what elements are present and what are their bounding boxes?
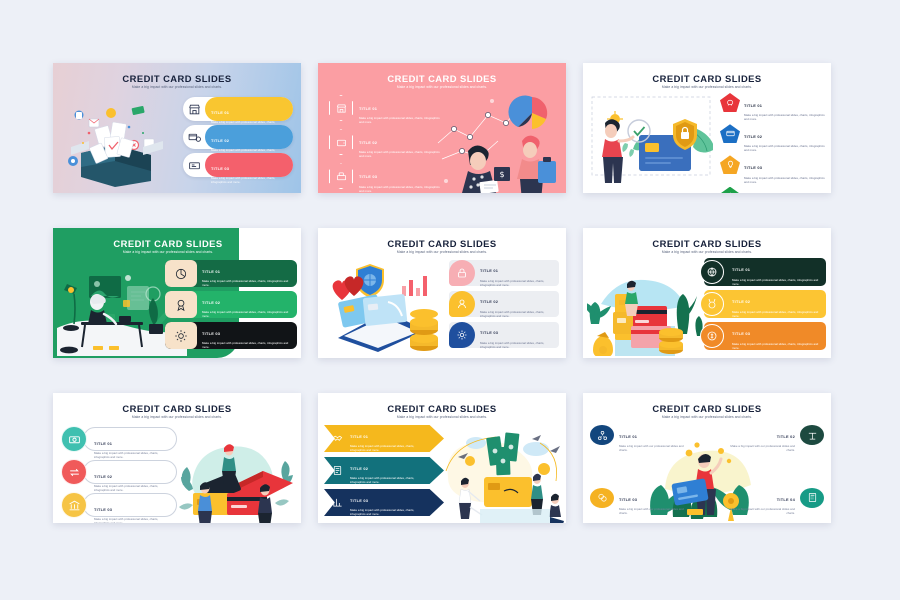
list-item-title: TITLE 03 [619, 497, 637, 502]
list-item-body: TITLE 04 Make a big impact with professi… [740, 187, 825, 193]
list-item-body: TITLE 02 Make a big impact with professi… [726, 290, 826, 317]
list-item-title: TITLE 01 [619, 434, 637, 439]
coins-icon [590, 488, 614, 508]
item-list: TITLE 01 Make a big impact with professi… [720, 93, 825, 193]
list-item-body: TITLE 03 Make a big impact with professi… [83, 493, 177, 517]
illustration-people-giant-cards [175, 431, 301, 523]
list-item[interactable]: TITLE 03 Make a big impact with professi… [328, 163, 440, 192]
list-item-text: Make a big impact with professional slid… [359, 116, 440, 124]
item-list: TITLE 01 Make a big impact with professi… [328, 95, 440, 193]
list-item-title: TITLE 01 [359, 106, 377, 111]
item-list: TITLE 01 Make a big impact with professi… [324, 425, 444, 521]
card-payment-icon [183, 131, 205, 144]
list-item-body: TITLE 03 Make a big impact with professi… [205, 153, 293, 177]
list-item[interactable]: TITLE 02 Make a big impact with professi… [324, 457, 444, 484]
list-item-text: Make a big impact with our professional … [725, 507, 795, 515]
list-item-title: TITLE 03 [202, 331, 220, 336]
item-list: TITLE 01 Make a big impact with professi… [704, 258, 826, 354]
list-item-title: TITLE 02 [350, 466, 368, 471]
list-item-title: TITLE 01 [211, 110, 229, 115]
svg-text:$: $ [499, 170, 504, 179]
page-title: CREDIT CARD SLIDES [583, 73, 831, 84]
list-item[interactable]: TITLE 01 Make a big impact with professi… [183, 97, 293, 121]
slide-deck-board: CREDIT CARD SLIDES Make a big impact wit… [0, 0, 900, 600]
user-icon [449, 291, 475, 317]
illustration-open-box [59, 97, 171, 187]
list-item-title: TITLE 01 [480, 268, 498, 273]
list-item-title: TITLE 02 [777, 434, 795, 439]
list-item-title: TITLE 02 [359, 140, 377, 145]
list-item-text: Make a big impact with professional slid… [732, 342, 826, 350]
slide-thumbnail-3[interactable]: CREDIT CARD SLIDES Make a big impact wit… [583, 63, 831, 193]
list-item-body: TITLE 02 Make a big impact with professi… [740, 124, 825, 152]
list-item-body: TITLE 01 Make a big impact with our prof… [614, 425, 694, 452]
illustration-people-charts: $ [432, 89, 566, 193]
page-title: CREDIT CARD SLIDES [318, 73, 566, 84]
list-item[interactable]: TITLE 02 Make a big impact with professi… [165, 291, 297, 318]
list-item[interactable]: TITLE 02 Make a big impact with professi… [449, 291, 559, 317]
coin-icon [700, 324, 724, 348]
list-item-text: Make a big impact with professional slid… [359, 150, 440, 158]
slide-thumbnail-1[interactable]: CREDIT CARD SLIDES Make a big impact wit… [53, 63, 301, 193]
page-subtitle: Make a big impact with our professional … [583, 415, 831, 419]
bank-icon [61, 492, 87, 518]
chart-icon [328, 497, 347, 508]
item-list: TITLE 01 Make a big impact with professi… [61, 425, 177, 523]
list-item-title: TITLE 02 [480, 299, 498, 304]
list-item-body: TITLE 01 Make a big impact with professi… [475, 259, 559, 286]
slide-thumbnail-2[interactable]: CREDIT CARD SLIDES Make a big impact wit… [318, 63, 566, 193]
list-item-text: Make a big impact with our professional … [619, 507, 689, 515]
page-title: CREDIT CARD SLIDES [583, 403, 831, 414]
list-item-body: TITLE 02 Make a big impact with professi… [197, 291, 297, 318]
list-item-title: TITLE 02 [744, 134, 762, 139]
slide-thumbnail-9[interactable]: CREDIT CARD SLIDES Make a big impact wit… [583, 393, 831, 523]
list-item[interactable]: TITLE 03 Make a big impact with professi… [165, 322, 297, 349]
list-item-title: TITLE 03 [359, 174, 377, 179]
page-subtitle: Make a big impact with our professional … [93, 250, 243, 254]
list-item[interactable]: TITLE 02 Make a big impact with professi… [61, 458, 177, 486]
handshake-icon [328, 433, 347, 444]
hexagon-frame [328, 129, 354, 155]
slide-thumbnail-5[interactable]: CREDIT CARD SLIDES Make a big impact wit… [318, 228, 566, 358]
page-subtitle: Make a big impact with our professional … [583, 250, 831, 254]
cash-register-icon [329, 163, 353, 189]
store-icon [329, 95, 353, 121]
award-icon [165, 291, 197, 318]
lock-icon [449, 260, 475, 286]
medal-icon [700, 292, 724, 316]
list-item-text: Make a big impact with professional slid… [744, 176, 825, 184]
list-item-body: TITLE 02 Make a big impact with professi… [347, 457, 444, 484]
illustration-cards-cactus [587, 264, 705, 356]
list-item-body: TITLE 01 Make a big impact with professi… [726, 258, 826, 285]
credit-card-icon [720, 124, 740, 143]
list-item[interactable]: TITLE 03 Make a big impact with professi… [183, 153, 293, 177]
settings-icon [449, 322, 475, 348]
list-item-title: TITLE 02 [211, 138, 229, 143]
slide-thumbnail-4[interactable]: CREDIT CARD SLIDES Make a big impact wit… [53, 228, 301, 358]
page-title: CREDIT CARD SLIDES [583, 238, 831, 249]
pie-chart-icon [165, 260, 197, 287]
list-item-text: Make a big impact with professional slid… [211, 176, 287, 184]
list-item-body: TITLE 01 Make a big impact with professi… [197, 260, 297, 287]
list-item[interactable]: TITLE 02 Make a big impact with professi… [328, 129, 440, 158]
list-item[interactable]: TITLE 03 Make a big impact with our prof… [590, 488, 694, 515]
piggy-bank-icon [720, 93, 740, 112]
list-item-text: Make a big impact with professional slid… [732, 310, 826, 318]
list-item-body: TITLE 01 Make a big impact with professi… [347, 425, 444, 452]
list-item-body: TITLE 02 Make a big impact with professi… [205, 125, 293, 149]
list-item-text: Make a big impact with professional slid… [350, 476, 430, 484]
hexagon-frame [328, 163, 354, 189]
shop-icon [183, 103, 205, 116]
list-item[interactable]: TITLE 03 Make a big impact with professi… [324, 489, 444, 516]
page-title: CREDIT CARD SLIDES [53, 73, 301, 84]
item-list: TITLE 01 Make a big impact with professi… [165, 260, 297, 353]
list-item-body: TITLE 03 Make a big impact with professi… [347, 489, 444, 516]
list-item-body: TITLE 03 Make a big impact with professi… [475, 321, 559, 348]
item-list: TITLE 01 Make a big impact with professi… [183, 97, 293, 181]
list-item-body: TITLE 02 Make a big impact with professi… [83, 460, 177, 484]
bank-column-icon [800, 425, 824, 445]
list-item[interactable]: TITLE 04 Make a big impact with our prof… [720, 488, 824, 515]
list-item-body: TITLE 03 Make a big impact with professi… [354, 163, 440, 192]
list-item[interactable]: TITLE 03 Make a big impact with professi… [720, 155, 825, 183]
illustration-cash-yellow-card [436, 421, 566, 523]
list-item-title: TITLE 02 [202, 300, 220, 305]
list-item[interactable]: TITLE 01 Make a big impact with professi… [165, 260, 297, 287]
list-item-text: Make a big impact with professional slid… [744, 113, 825, 121]
list-item-text: Make a big impact with professional slid… [480, 341, 559, 349]
hexagon-frame [328, 95, 354, 121]
list-item[interactable]: TITLE 01 Make a big impact with professi… [704, 258, 826, 286]
list-item[interactable]: TITLE 02 Make a big impact with professi… [704, 290, 826, 318]
list-item-body: TITLE 03 Make a big impact with professi… [740, 155, 825, 183]
list-item-body: TITLE 03 Make a big impact with professi… [197, 322, 297, 349]
page-title: CREDIT CARD SLIDES [318, 238, 566, 249]
money-icon [61, 426, 87, 452]
list-item-title: TITLE 03 [744, 165, 762, 170]
list-item-body: TITLE 04 Make a big impact with our prof… [720, 488, 800, 515]
contract-icon [328, 465, 347, 476]
list-item[interactable]: TITLE 02 Make a big impact with professi… [183, 125, 293, 149]
page-title: CREDIT CARD SLIDES [93, 238, 243, 249]
list-item-title: TITLE 03 [94, 507, 112, 512]
page-subtitle: Make a big impact with our professional … [318, 415, 566, 419]
page-title: CREDIT CARD SLIDES [318, 403, 566, 414]
list-item[interactable]: TITLE 03 Make a big impact with professi… [449, 322, 559, 348]
list-item-text: Make a big impact with professional slid… [480, 310, 559, 318]
list-item[interactable]: TITLE 04 Make a big impact with professi… [720, 187, 825, 193]
list-item-text: Make a big impact with professional slid… [94, 517, 170, 523]
list-item[interactable]: TITLE 01 Make a big impact with professi… [324, 425, 444, 452]
list-item[interactable]: TITLE 02 Make a big impact with professi… [720, 124, 825, 152]
slide-thumbnail-8[interactable]: CREDIT CARD SLIDES Make a big impact wit… [318, 393, 566, 523]
list-item-text: Make a big impact with our professional … [725, 444, 795, 452]
list-item-title: TITLE 03 [211, 166, 229, 171]
list-item-text: Make a big impact with professional slid… [359, 185, 440, 193]
list-item-title: TITLE 03 [350, 498, 368, 503]
list-item-title: TITLE 02 [94, 474, 112, 479]
list-item-text: Make a big impact with professional slid… [480, 279, 559, 287]
list-item-title: TITLE 03 [480, 330, 498, 335]
wallet-icon [329, 129, 353, 155]
idea-icon [165, 322, 197, 349]
list-item-text: Make a big impact with professional slid… [202, 341, 292, 349]
list-item-text: Make a big impact with our professional … [619, 444, 689, 452]
list-item-text: Make a big impact with professional slid… [350, 508, 430, 516]
page-title: CREDIT CARD SLIDES [53, 403, 301, 414]
slide-grid: CREDIT CARD SLIDES Make a big impact wit… [53, 63, 847, 536]
bulb-icon [720, 155, 740, 174]
page-subtitle: Make a big impact with our professional … [583, 85, 831, 89]
slide-thumbnail-6[interactable]: CREDIT CARD SLIDES Make a big impact wit… [583, 228, 831, 358]
list-item-title: TITLE 01 [350, 434, 368, 439]
list-item-text: Make a big impact with professional slid… [202, 279, 292, 287]
list-item-body: TITLE 01 Make a big impact with professi… [83, 427, 177, 451]
list-item[interactable]: TITLE 01 Make a big impact with professi… [328, 95, 440, 124]
list-item-text: Make a big impact with professional slid… [350, 444, 430, 452]
calculator-icon [800, 488, 824, 508]
list-item-body: TITLE 02 Make a big impact with our prof… [720, 425, 800, 452]
slide-thumbnail-7[interactable]: CREDIT CARD SLIDES Make a big impact wit… [53, 393, 301, 523]
list-item-body: TITLE 03 Make a big impact with our prof… [614, 488, 694, 515]
shield-icon [720, 187, 740, 193]
page-subtitle: Make a big impact with our professional … [53, 85, 301, 89]
list-item[interactable]: TITLE 03 Make a big impact with professi… [704, 322, 826, 350]
list-item-title: TITLE 02 [732, 299, 750, 304]
list-item-body: TITLE 01 Make a big impact with professi… [205, 97, 293, 121]
list-item-title: TITLE 01 [202, 269, 220, 274]
atm-icon [183, 159, 205, 172]
illustration-woman-credit-card [591, 93, 713, 188]
network-icon [590, 425, 614, 445]
list-item-body: TITLE 03 Make a big impact with professi… [726, 322, 826, 349]
list-item[interactable]: TITLE 01 Make a big impact with our prof… [590, 425, 694, 452]
list-item[interactable]: TITLE 01 Make a big impact with professi… [449, 260, 559, 286]
list-item-title: TITLE 03 [732, 331, 750, 336]
list-item[interactable]: TITLE 01 Make a big impact with professi… [720, 93, 825, 121]
list-item-text: Make a big impact with professional slid… [744, 144, 825, 152]
item-list: TITLE 01 Make a big impact with professi… [449, 260, 559, 353]
list-item-text: Make a big impact with professional slid… [202, 310, 292, 318]
list-item-title: TITLE 01 [94, 441, 112, 446]
list-item-body: TITLE 01 Make a big impact with professi… [354, 95, 440, 124]
exchange-icon [61, 459, 87, 485]
list-item[interactable]: TITLE 03 Make a big impact with professi… [61, 491, 177, 519]
list-item-body: TITLE 02 Make a big impact with professi… [354, 129, 440, 158]
list-item-title: TITLE 04 [777, 497, 795, 502]
list-item-title: TITLE 01 [744, 103, 762, 108]
list-item-text: Make a big impact with professional slid… [732, 278, 826, 286]
list-item[interactable]: TITLE 02 Make a big impact with our prof… [720, 425, 824, 452]
list-item-body: TITLE 01 Make a big impact with professi… [740, 93, 825, 121]
illustration-cards-coins [328, 262, 450, 354]
page-subtitle: Make a big impact with our professional … [53, 415, 301, 419]
list-item[interactable]: TITLE 01 Make a big impact with professi… [61, 425, 177, 453]
globe-icon [700, 260, 724, 284]
list-item-title: TITLE 01 [732, 267, 750, 272]
page-subtitle: Make a big impact with our professional … [318, 250, 566, 254]
list-item-body: TITLE 02 Make a big impact with professi… [475, 290, 559, 317]
